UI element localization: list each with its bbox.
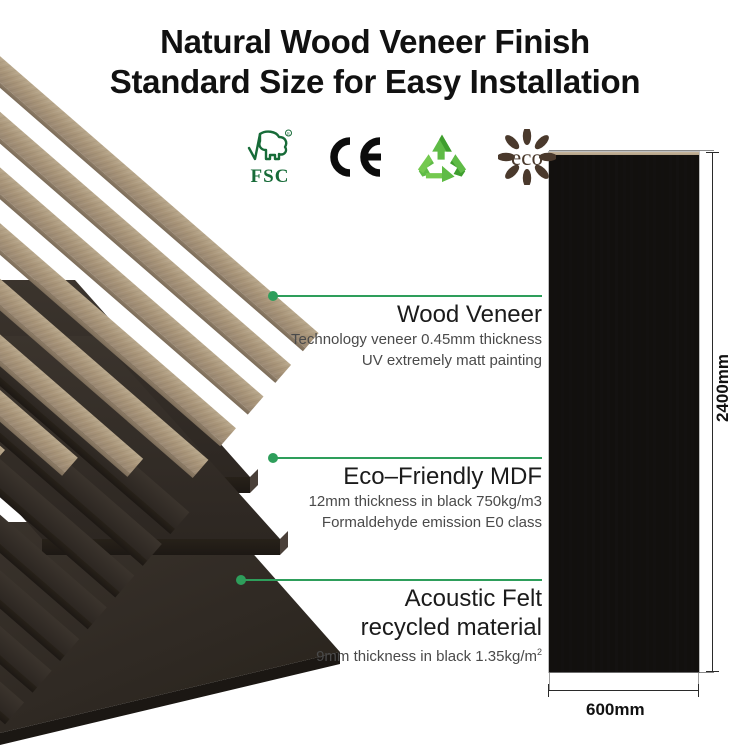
callout-sub1-wood-veneer: Technology veneer 0.45mm thickness [242,329,542,350]
dim-tick-height-bottom [706,671,719,672]
panel-slat [557,152,565,672]
panel-slat [603,152,611,672]
callout-wood-veneer: Wood Veneer Technology veneer 0.45mm thi… [242,300,542,371]
dim-ext-top [549,150,714,151]
eco-glyph: eco [498,129,556,185]
panel-slat [587,152,595,672]
callout-title-mdf: Eco–Friendly MDF [242,462,542,491]
fsc-tree-glyph: R [246,128,294,168]
callout-title-wood-veneer: Wood Veneer [242,300,542,329]
panel-slat [687,152,695,672]
fsc-icon: R FSC [238,126,302,188]
callout-acoustic-felt: Acoustic Felt recycled material 9mm thic… [212,584,542,667]
panel-slat [595,152,603,672]
callout-dot-wood-veneer [268,291,278,301]
panel-slat [672,152,680,672]
callout-title2-felt: recycled material [212,613,542,642]
callout-sub1-felt: 9mm thickness in black 1.35kg/m2 [212,642,542,667]
callout-title-felt: Acoustic Felt [212,584,542,613]
recycle-icon [412,126,472,188]
infographic-canvas: Natural Wood Veneer Finish Standard Size… [0,0,750,750]
panel-slat [618,152,626,672]
dim-ext-bottom [549,672,714,673]
panel-slat [610,152,618,672]
panel-slat [564,152,572,672]
callout-sub2-wood-veneer: UV extremely matt painting [242,350,542,371]
fsc-label: FSC [251,167,290,186]
page-title: Natural Wood Veneer Finish Standard Size… [0,22,750,102]
dim-tick-height-top [706,152,719,153]
title-line-2: Standard Size for Easy Installation [0,62,750,102]
callout-eco-friendly-mdf: Eco–Friendly MDF 12mm thickness in black… [242,462,542,533]
panel-slat [649,152,657,672]
ce-glyph [328,136,386,178]
panel-slat [641,152,649,672]
felt-unit-superscript: 2 [537,647,542,657]
svg-text:R: R [287,131,290,136]
panel-slat [549,152,557,672]
panel-top-edge [549,152,699,155]
callout-dot-felt [236,575,246,585]
panel-slat [679,152,687,672]
dim-label-width: 600mm [586,700,645,720]
ce-icon [326,126,388,188]
callout-line-wood-veneer [277,295,542,297]
panel-slat [633,152,641,672]
panel-slat [664,152,672,672]
title-line-1: Natural Wood Veneer Finish [0,22,750,62]
panel-slat-group [549,152,699,672]
callout-line-mdf [277,457,542,459]
panel-slat [626,152,634,672]
eco-icon: eco [496,126,558,188]
callout-dot-mdf [268,453,278,463]
recycle-glyph [415,132,469,182]
slat-panel-product [549,152,699,672]
callout-line-felt [245,579,542,581]
dim-ext-left [549,673,550,691]
callout-sub2-mdf: Formaldehyde emission E0 class [242,512,542,533]
dim-line-width [549,690,699,691]
certification-badges: R FSC [238,124,558,190]
panel-slat [580,152,588,672]
dim-label-height: 2400mm [713,354,733,422]
dim-ext-right [698,673,699,691]
eco-label: eco [511,145,543,170]
panel-slat [656,152,664,672]
panel-slat [694,152,699,672]
panel-slat [572,152,580,672]
callout-sub1-mdf: 12mm thickness in black 750kg/m3 [242,491,542,512]
